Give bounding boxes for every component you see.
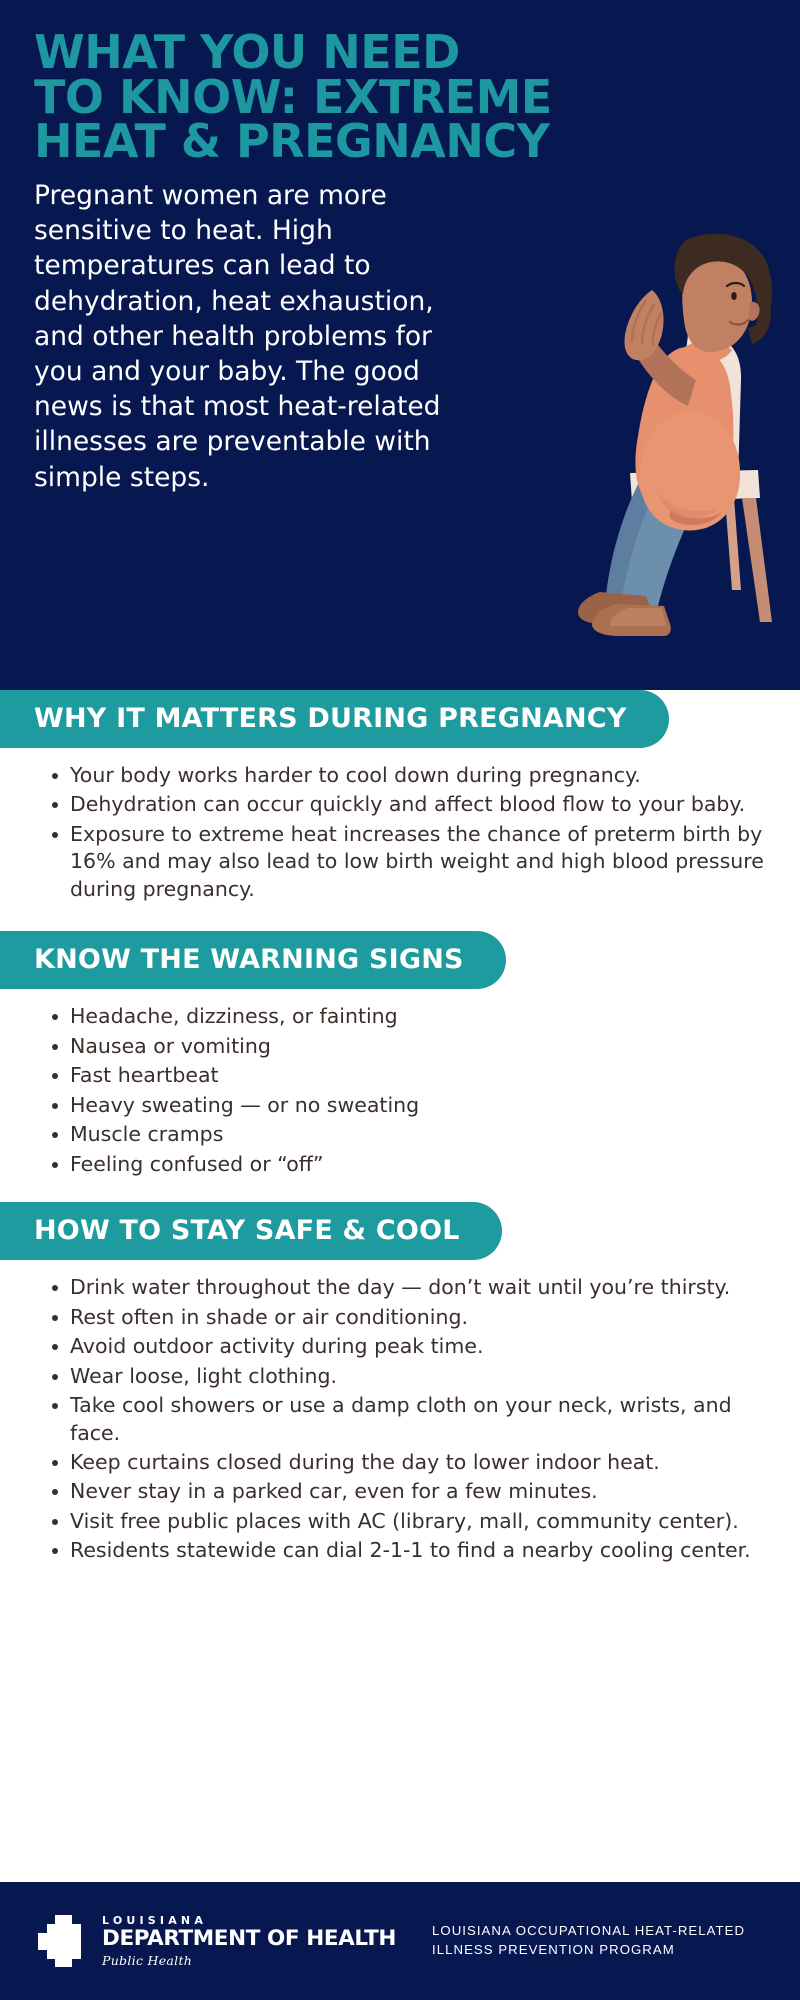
program-line-2: ILLNESS PREVENTION PROGRAM [432, 1941, 745, 1960]
section-gap [0, 905, 800, 931]
logo-line-public-health: Public Health [102, 1955, 396, 1968]
list-item: Muscle cramps [52, 1121, 770, 1148]
list-item: Headache, dizziness, or fainting [52, 1003, 770, 1030]
list-why-it-matters: Your body works harder to cool down duri… [0, 748, 800, 903]
section-warning-signs: KNOW THE WARNING SIGNS Headache, dizzine… [0, 931, 800, 1180]
logo-wordmark: LOUISIANA DEPARTMENT OF HEALTH Public He… [102, 1915, 396, 1967]
logo-line-department-of-health: DEPARTMENT OF HEALTH [102, 1928, 396, 1950]
list-item: Feeling confused or “off” [52, 1151, 770, 1178]
section-heading-warning-signs: KNOW THE WARNING SIGNS [0, 931, 506, 989]
title-line-1: WHAT YOU NEED [34, 30, 740, 75]
bottom-spacer [0, 1567, 800, 1882]
list-item: Nausea or vomiting [52, 1033, 770, 1060]
list-item: Drink water throughout the day — don’t w… [52, 1274, 770, 1301]
section-heading-why-it-matters: WHY IT MATTERS DURING PREGNANCY [0, 690, 669, 748]
title-line-3: HEAT & PREGNANCY [34, 119, 740, 164]
page-title: WHAT YOU NEED TO KNOW: EXTREME HEAT & PR… [0, 26, 760, 164]
list-stay-safe-cool: Drink water throughout the day — don’t w… [0, 1260, 800, 1565]
seated-pregnant-woman-illustration [520, 230, 800, 690]
list-item: Your body works harder to cool down duri… [52, 762, 770, 789]
list-item: Avoid outdoor activity during peak time. [52, 1333, 770, 1360]
list-item: Wear loose, light clothing. [52, 1363, 770, 1390]
list-item: Heavy sweating — or no sweating [52, 1092, 770, 1119]
infographic-poster: WHAT YOU NEED TO KNOW: EXTREME HEAT & PR… [0, 0, 800, 2000]
program-line-1: LOUISIANA OCCUPATIONAL HEAT-RELATED [432, 1922, 745, 1941]
section-gap [0, 1180, 800, 1202]
list-item: Take cool showers or use a damp cloth on… [52, 1392, 770, 1447]
list-item: Residents statewide can dial 2-1-1 to fi… [52, 1537, 770, 1564]
louisiana-dept-health-cross-logo [38, 1915, 90, 1967]
list-item: Visit free public places with AC (librar… [52, 1508, 770, 1535]
hero-section: WHAT YOU NEED TO KNOW: EXTREME HEAT & PR… [0, 0, 800, 690]
list-item: Keep curtains closed during the day to l… [52, 1449, 770, 1476]
section-stay-safe-cool: HOW TO STAY SAFE & COOL Drink water thro… [0, 1202, 800, 1567]
section-why-it-matters: WHY IT MATTERS DURING PREGNANCY Your bod… [0, 690, 800, 905]
logo-line-louisiana: LOUISIANA [102, 1915, 396, 1926]
list-item: Fast heartbeat [52, 1062, 770, 1089]
list-item: Exposure to extreme heat increases the c… [52, 821, 770, 903]
section-heading-stay-safe-cool: HOW TO STAY SAFE & COOL [0, 1202, 502, 1260]
list-item: Rest often in shade or air conditioning. [52, 1304, 770, 1331]
program-name: LOUISIANA OCCUPATIONAL HEAT-RELATED ILLN… [432, 1922, 745, 1959]
hero-paragraph: Pregnant women are more sensitive to hea… [0, 164, 452, 495]
louisiana-dept-health-logo: LOUISIANA DEPARTMENT OF HEALTH Public He… [38, 1915, 396, 1967]
title-line-2: TO KNOW: EXTREME [34, 75, 740, 120]
list-item: Never stay in a parked car, even for a f… [52, 1478, 770, 1505]
list-warning-signs: Headache, dizziness, or fainting Nausea … [0, 989, 800, 1178]
list-item: Dehydration can occur quickly and affect… [52, 791, 770, 818]
footer: LOUISIANA DEPARTMENT OF HEALTH Public He… [0, 1882, 800, 2000]
